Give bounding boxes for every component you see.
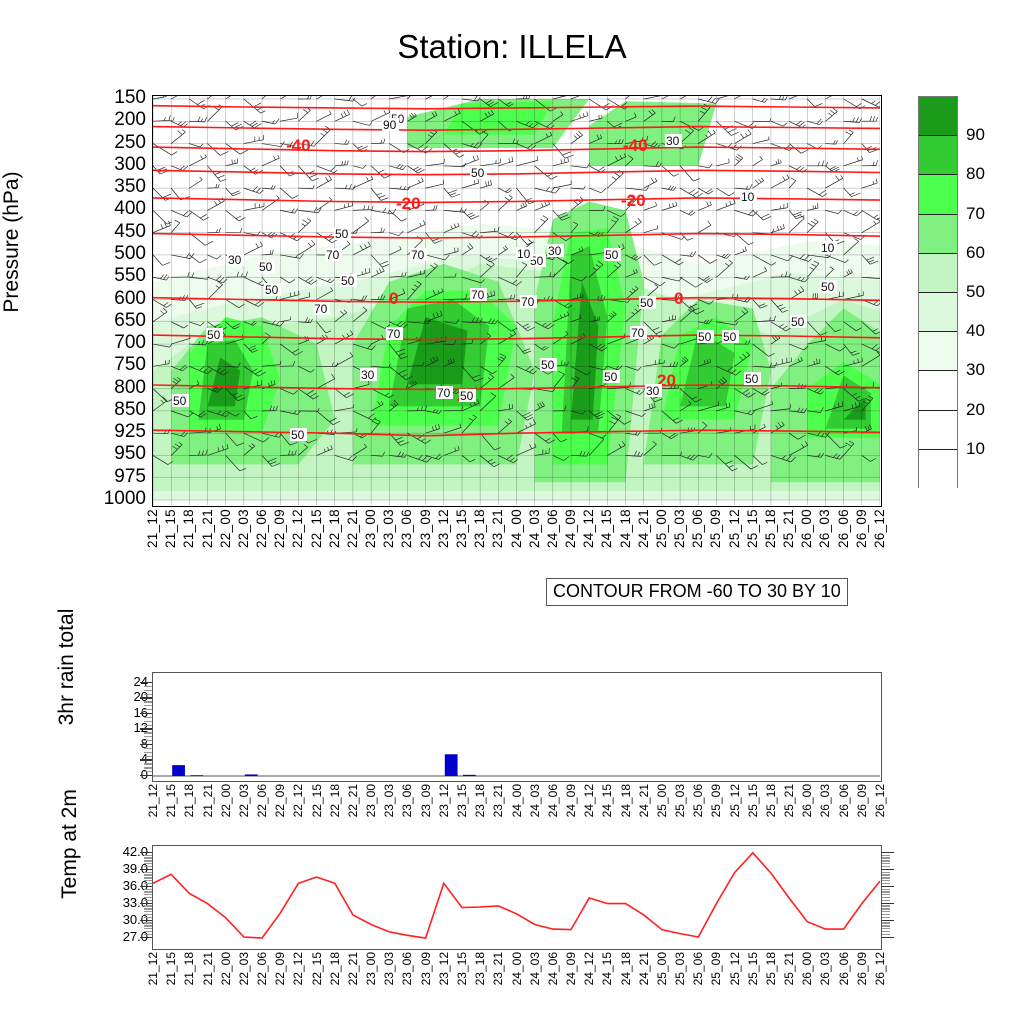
temp-time-label: 23_15 [455, 952, 469, 985]
rain-time-label: 24_06 [546, 784, 560, 817]
rain-time-label: 22_00 [219, 784, 233, 817]
temp-tickmark [144, 855, 152, 856]
temp-right-tickmark [882, 886, 894, 887]
time-tick-label: 25_15 [745, 509, 760, 548]
temp-right-tickmark [882, 883, 890, 884]
pressure-tick: 925 [86, 421, 146, 443]
temp-right-tickmark [882, 903, 894, 904]
temp-tickmark [144, 905, 152, 906]
pressure-tick: 500 [86, 243, 146, 265]
temp-time-label: 21_21 [201, 952, 215, 985]
svg-text:50: 50 [460, 389, 474, 403]
temp-right-tickmark [882, 869, 894, 870]
time-tick-label: 26_12 [872, 509, 887, 548]
rain-time-label: 26_00 [800, 784, 814, 817]
rain-time-label: 25_09 [709, 784, 723, 817]
rain-tickmark [144, 736, 152, 737]
time-tick-label: 24_06 [545, 509, 560, 548]
time-tick-label: 22_18 [327, 509, 342, 548]
time-tick-label: 23_09 [418, 509, 433, 548]
temp-time-label: 22_00 [219, 952, 233, 985]
rain-tickmark [140, 697, 152, 698]
temp-right-tickmark [882, 880, 890, 881]
temp-tickmark [144, 911, 152, 912]
temp-time-label: 24_21 [637, 952, 651, 985]
temp-tickmark [140, 869, 152, 870]
svg-text:70: 70 [471, 288, 485, 302]
colorbar-band [919, 450, 957, 489]
svg-text:90: 90 [383, 118, 397, 132]
rain-x-axis-labels: 21_1221_1521_1821_2122_0022_0322_0622_09… [152, 784, 882, 846]
temp-tickmark [144, 877, 152, 878]
rain-tickmark [144, 686, 152, 687]
svg-text:70: 70 [314, 302, 328, 316]
rain-time-label: 25_12 [728, 784, 742, 817]
rain-tickmark [144, 690, 152, 691]
svg-text:50: 50 [640, 296, 654, 310]
temp-time-label: 24_06 [546, 952, 560, 985]
rain-time-label: 24_18 [619, 784, 633, 817]
rain-time-label: 22_15 [310, 784, 324, 817]
temp-time-label: 21_12 [146, 952, 160, 985]
rain-time-label: 25_00 [655, 784, 669, 817]
svg-text:0: 0 [674, 289, 683, 308]
contour-note: CONTOUR FROM -60 TO 30 BY 10 [546, 578, 848, 606]
svg-text:50: 50 [335, 227, 349, 241]
colorbar-band [919, 215, 957, 254]
colorbar-label: 80 [966, 164, 985, 184]
time-tick-label: 24_18 [618, 509, 633, 548]
temp-axis-title: Temp at 2m [58, 734, 82, 954]
rain-time-label: 24_21 [637, 784, 651, 817]
temp-tickmark [144, 934, 152, 935]
rain-time-label: 23_03 [382, 784, 396, 817]
temp-time-label: 23_06 [400, 952, 414, 985]
rain-tickmark [144, 721, 152, 722]
rain-time-label: 21_15 [164, 784, 178, 817]
rain-time-label: 23_18 [473, 784, 487, 817]
colorbar-label: 20 [966, 400, 985, 420]
colorbar-band [919, 175, 957, 214]
temp-time-label: 25_12 [728, 952, 742, 985]
colorbar-label: 70 [966, 204, 985, 224]
rain-tickmark [144, 725, 152, 726]
rain-time-label: 24_03 [528, 784, 542, 817]
svg-text:30: 30 [646, 384, 660, 398]
rain-tickmark [144, 771, 152, 772]
colorbar-label: 60 [966, 243, 985, 263]
temp-time-label: 23_03 [382, 952, 396, 985]
temp-tickmark [144, 872, 152, 873]
temp-time-label: 24_12 [582, 952, 596, 985]
temp-time-label: 24_03 [528, 952, 542, 985]
page-title: Station: ILLELA [0, 28, 1024, 66]
temp-tickmark [144, 897, 152, 898]
pressure-axis-ticks: 1502002503003504004505005506006507007508… [84, 95, 146, 507]
time-tick-label: 21_12 [145, 509, 160, 548]
svg-text:70: 70 [411, 248, 425, 262]
colorbar-label: 10 [966, 439, 985, 459]
colorbar-band [919, 332, 957, 371]
pressure-tick: 350 [86, 176, 146, 198]
svg-text:50: 50 [259, 260, 273, 274]
temp-time-label: 23_18 [473, 952, 487, 985]
rain-tickmark [144, 705, 152, 706]
rain-tickmark [144, 763, 152, 764]
time-tick-label: 23_15 [454, 509, 469, 548]
rain-time-label: 22_12 [291, 784, 305, 817]
rain-svg [153, 673, 880, 780]
temp-time-label: 22_09 [273, 952, 287, 985]
rain-tickmark [144, 767, 152, 768]
rain-time-label: 25_18 [764, 784, 778, 817]
rain-tickmark [144, 756, 152, 757]
pressure-tick: 250 [86, 132, 146, 154]
pressure-tick: 200 [86, 109, 146, 131]
svg-text:30: 30 [666, 134, 680, 148]
temp-tickmark [144, 889, 152, 890]
rain-plot[interactable] [152, 672, 882, 782]
svg-text:10: 10 [517, 247, 531, 261]
rain-time-label: 26_06 [837, 784, 851, 817]
time-tick-label: 24_00 [509, 509, 524, 548]
svg-text:-40: -40 [286, 136, 311, 155]
time-tick-label: 25_18 [763, 509, 778, 548]
temp-tickmark [144, 860, 152, 861]
time-tick-label: 22_06 [254, 509, 269, 548]
time-tick-label: 23_00 [363, 509, 378, 548]
rain-tickmark [140, 728, 152, 729]
temp-right-tickmark [882, 937, 894, 938]
svg-text:50: 50 [821, 280, 835, 294]
rain-time-label: 25_15 [746, 784, 760, 817]
temp-right-tickmark [882, 922, 890, 923]
temp-tickmark [140, 937, 152, 938]
rain-time-label: 26_03 [818, 784, 832, 817]
meteogram-page: Station: ILLELA Pressure (hPa) 150200250… [0, 0, 1024, 1024]
colorbar-label: 30 [966, 360, 985, 380]
rain-time-label: 22_03 [237, 784, 251, 817]
time-tick-label: 25_21 [781, 509, 796, 548]
temp-time-label: 23_12 [437, 952, 451, 985]
rain-time-label: 21_12 [146, 784, 160, 817]
temp-time-label: 22_03 [237, 952, 251, 985]
pressure-tick: 300 [86, 154, 146, 176]
svg-text:50: 50 [745, 372, 759, 386]
rain-tickmark [140, 713, 152, 714]
svg-text:-40: -40 [623, 136, 648, 155]
temp-tickmark [144, 900, 152, 901]
temp-right-tickmark [882, 914, 890, 915]
temp-tickmark [144, 857, 152, 858]
time-tick-label: 24_09 [563, 509, 578, 548]
temp-tickmark [144, 928, 152, 929]
temp-tickmark [144, 874, 152, 875]
temp-time-label: 25_15 [746, 952, 760, 985]
temp-x-axis-labels: 21_1221_1521_1821_2122_0022_0322_0622_09… [152, 952, 882, 1014]
temp-time-label: 24_00 [510, 952, 524, 985]
temp-right-tickmark [882, 931, 890, 932]
pressure-tick: 450 [86, 221, 146, 243]
time-tick-label: 22_15 [309, 509, 324, 548]
temp-time-label: 23_21 [491, 952, 505, 985]
temp-tickmark [144, 880, 152, 881]
pressure-tick: 600 [86, 288, 146, 310]
pressure-tick: 800 [86, 377, 146, 399]
temp-tickmark [144, 914, 152, 915]
temp-right-tickmark [882, 894, 890, 895]
temp-tickmark [140, 920, 152, 921]
time-tick-label: 21_15 [163, 509, 178, 548]
rain-time-label: 23_09 [419, 784, 433, 817]
rain-tickmark [144, 709, 152, 710]
temp-right-tickmark [882, 908, 890, 909]
time-tick-label: 22_03 [236, 509, 251, 548]
svg-text:50: 50 [604, 370, 618, 384]
temp-time-label: 24_09 [564, 952, 578, 985]
rain-tickmark [140, 682, 152, 683]
temp-tickmark [144, 894, 152, 895]
rain-time-label: 21_18 [182, 784, 196, 817]
svg-text:10: 10 [821, 241, 835, 255]
rain-time-label: 24_15 [600, 784, 614, 817]
svg-text:70: 70 [437, 386, 451, 400]
rain-time-label: 23_21 [491, 784, 505, 817]
svg-text:50: 50 [265, 283, 279, 297]
temp-right-tickmark [882, 857, 890, 858]
svg-text:10: 10 [741, 190, 755, 204]
time-tick-label: 24_15 [599, 509, 614, 548]
temp-right-tickmark [882, 866, 890, 867]
colorbar-label: 40 [966, 321, 985, 341]
svg-text:30: 30 [548, 244, 562, 258]
temp-time-label: 26_00 [800, 952, 814, 985]
colorbar-band [919, 371, 957, 410]
rain-time-label: 24_00 [510, 784, 524, 817]
svg-text:-20: -20 [621, 191, 646, 210]
temp-right-tickmark [882, 917, 890, 918]
colorbar-band [919, 136, 957, 175]
svg-text:-20: -20 [396, 194, 421, 213]
time-tick-label: 25_09 [708, 509, 723, 548]
rain-time-label: 22_21 [346, 784, 360, 817]
temp-right-tickmarks [882, 845, 896, 950]
time-tick-label: 24_21 [636, 509, 651, 548]
rain-tickmark [140, 775, 152, 776]
pressure-tick: 750 [86, 354, 146, 376]
svg-text:50: 50 [471, 166, 485, 180]
temp-right-tickmark [882, 897, 890, 898]
svg-text:30: 30 [228, 253, 242, 267]
rain-time-label: 25_03 [673, 784, 687, 817]
time-tick-label: 22_00 [218, 509, 233, 548]
temp-time-label: 23_09 [419, 952, 433, 985]
temp-time-label: 25_21 [782, 952, 796, 985]
temp-time-label: 25_06 [691, 952, 705, 985]
temp-right-tickmark [882, 852, 894, 853]
temp-right-tickmark [882, 889, 890, 890]
temp-tickmark [144, 908, 152, 909]
rain-tickmarks [140, 672, 152, 782]
temp-tickmarks [140, 845, 152, 950]
temp-right-tickmark [882, 863, 890, 864]
rain-tickmark [144, 748, 152, 749]
rain-time-label: 25_21 [782, 784, 796, 817]
time-tick-label: 21_21 [200, 509, 215, 548]
svg-text:0: 0 [389, 289, 398, 308]
svg-text:70: 70 [631, 326, 645, 340]
rain-time-label: 21_21 [201, 784, 215, 817]
temp-time-label: 26_09 [855, 952, 869, 985]
time-tick-label: 23_06 [399, 509, 414, 548]
svg-text:50: 50 [605, 248, 619, 262]
temp-right-tickmark [882, 934, 890, 935]
temp-right-tickmark [882, 891, 890, 892]
svg-text:50: 50 [291, 428, 305, 442]
pressure-tick: 950 [86, 443, 146, 465]
svg-text:50: 50 [173, 394, 187, 408]
pressure-tick: 400 [86, 198, 146, 220]
rain-tickmark [144, 752, 152, 753]
temp-time-label: 24_18 [619, 952, 633, 985]
colorbar-band [919, 97, 957, 136]
rain-time-label: 22_18 [328, 784, 342, 817]
temp-tickmark [140, 852, 152, 853]
time-tick-label: 22_21 [345, 509, 360, 548]
rain-time-label: 26_09 [855, 784, 869, 817]
rain-time-label: 26_12 [873, 784, 887, 817]
temp-tickmark [144, 925, 152, 926]
time-tick-label: 21_18 [181, 509, 196, 548]
temp-tickmark [140, 903, 152, 904]
pressure-tick: 150 [86, 87, 146, 109]
time-tick-label: 22_12 [290, 509, 305, 548]
rain-tickmark [144, 740, 152, 741]
time-tick-label: 23_18 [472, 509, 487, 548]
temp-tickmark [144, 931, 152, 932]
rain-tickmark [144, 732, 152, 733]
temp-right-tickmark [882, 860, 890, 861]
time-tick-label: 24_03 [527, 509, 542, 548]
rain-tickmark [144, 701, 152, 702]
rain-time-label: 24_09 [564, 784, 578, 817]
temp-right-tickmark [882, 911, 890, 912]
temp-time-label: 25_00 [655, 952, 669, 985]
rain-time-label: 23_15 [455, 784, 469, 817]
cross-section-plot[interactable]: -40-40-20-200020203050705090505030103010… [152, 95, 882, 507]
time-tick-label: 26_03 [817, 509, 832, 548]
temp-time-label: 24_15 [600, 952, 614, 985]
colorbar-label: 50 [966, 282, 985, 302]
temp-time-label: 25_09 [709, 952, 723, 985]
colorbar-band [919, 411, 957, 450]
svg-text:50: 50 [341, 274, 355, 288]
time-tick-label: 25_03 [672, 509, 687, 548]
temp-time-label: 22_12 [291, 952, 305, 985]
temp-right-tickmark [882, 874, 890, 875]
temp-tickmark [144, 883, 152, 884]
rain-tickmark [140, 744, 152, 745]
svg-text:70: 70 [521, 295, 535, 309]
temp-tickmark [144, 891, 152, 892]
time-tick-label: 26_00 [799, 509, 814, 548]
rain-tickmark [140, 759, 152, 760]
temp-tickmark [144, 922, 152, 923]
main-x-axis-labels: 21_1221_1521_1821_2122_0022_0322_0622_09… [152, 509, 882, 579]
temp-time-label: 26_03 [818, 952, 832, 985]
temp-right-tickmark [882, 928, 890, 929]
temp-time-label: 25_03 [673, 952, 687, 985]
rain-tickmark [144, 717, 152, 718]
rain-time-label: 23_06 [400, 784, 414, 817]
temp-time-label: 22_21 [346, 952, 360, 985]
svg-text:50: 50 [698, 330, 712, 344]
temp-svg [153, 846, 880, 948]
temp-time-label: 26_12 [873, 952, 887, 985]
colorbar-band [919, 254, 957, 293]
time-tick-label: 26_09 [854, 509, 869, 548]
time-tick-label: 25_00 [654, 509, 669, 548]
pressure-tick: 850 [86, 399, 146, 421]
rain-time-label: 22_06 [255, 784, 269, 817]
temp-right-tickmark [882, 900, 890, 901]
time-tick-label: 23_03 [381, 509, 396, 548]
time-tick-label: 24_12 [581, 509, 596, 548]
pressure-tick: 975 [86, 466, 146, 488]
time-tick-label: 26_06 [836, 509, 851, 548]
temp-time-label: 25_18 [764, 952, 778, 985]
temp-time-label: 22_18 [328, 952, 342, 985]
colorbar-label: 90 [966, 125, 985, 145]
temp-time-label: 26_06 [837, 952, 851, 985]
rain-time-label: 25_06 [691, 784, 705, 817]
time-tick-label: 25_12 [727, 509, 742, 548]
svg-text:50: 50 [207, 328, 221, 342]
colorbar-labels: 908070605040302010 [966, 96, 1016, 488]
svg-text:70: 70 [387, 327, 401, 341]
temp-tickmark [144, 863, 152, 864]
temp-right-tickmark [882, 872, 890, 873]
temp-time-label: 22_06 [255, 952, 269, 985]
rain-time-label: 23_12 [437, 784, 451, 817]
rain-time-label: 23_00 [364, 784, 378, 817]
time-tick-label: 22_09 [272, 509, 287, 548]
humidity-colorbar [918, 96, 958, 488]
temp-plot[interactable] [152, 845, 882, 950]
pressure-tick: 650 [86, 310, 146, 332]
pressure-tick: 1000 [86, 488, 146, 510]
svg-text:50: 50 [541, 358, 555, 372]
pressure-tick: 700 [86, 332, 146, 354]
temp-time-label: 21_15 [164, 952, 178, 985]
svg-text:30: 30 [361, 368, 375, 382]
colorbar-band [919, 293, 957, 332]
time-tick-label: 23_12 [436, 509, 451, 548]
rain-time-label: 24_12 [582, 784, 596, 817]
cross-section-svg: -40-40-20-200020203050705090505030103010… [153, 96, 880, 505]
temp-time-label: 21_18 [182, 952, 196, 985]
temp-right-tickmark [882, 920, 894, 921]
temp-time-label: 22_15 [310, 952, 324, 985]
svg-text:50: 50 [723, 330, 737, 344]
svg-text:70: 70 [326, 248, 340, 262]
pressure-axis-title: Pressure (hPa) [0, 0, 24, 502]
time-tick-label: 25_06 [690, 509, 705, 548]
temp-right-tickmark [882, 855, 890, 856]
rain-time-label: 22_09 [273, 784, 287, 817]
temp-tickmark [140, 886, 152, 887]
svg-text:50: 50 [791, 315, 805, 329]
